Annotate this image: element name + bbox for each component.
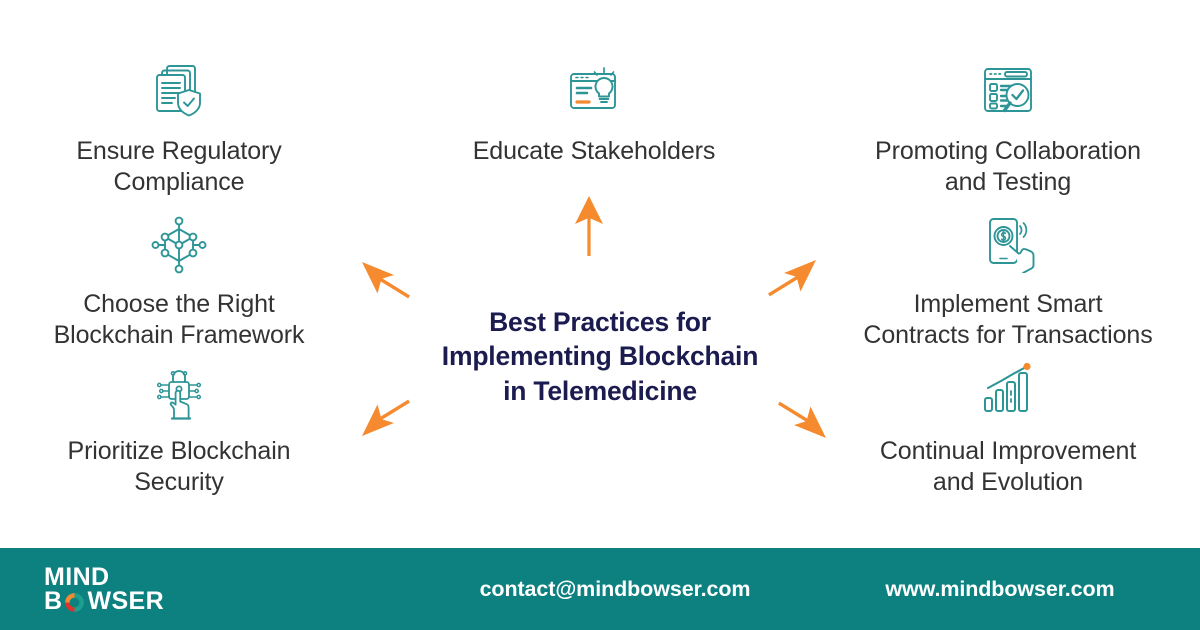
logo-text-b: B [44,589,62,613]
footer-website[interactable]: www.mindbowser.com [830,577,1200,602]
arrow-up-right-icon [762,256,818,306]
growth-bar-chart-arrow-icon [840,362,1176,424]
practice-item-regulatory: Ensure Regulatory Compliance [20,62,338,197]
circuit-lock-hand-icon [20,362,338,424]
practice-item-label: Implement Smart Contracts for Transactio… [840,289,1176,350]
footer-email-text: contact@mindbowser.com [480,577,751,601]
mindbowser-swirl-icon [63,591,86,614]
practice-item-label: Promoting Collaboration and Testing [840,136,1176,197]
brand-logo[interactable]: MIND B WSER [0,565,400,613]
documents-shield-check-icon [20,62,338,124]
logo-line-mind: MIND [44,565,400,589]
arrow-up-icon [566,196,612,258]
logo-text-wser: WSER [87,589,164,613]
browser-magnifier-check-icon [840,62,1176,124]
footer-bar: MIND B WSER contact@mindbowser.com www.m… [0,548,1200,630]
practice-item-label: Choose the Right Blockchain Framework [20,289,338,350]
center-title: Best Practices for Implementing Blockcha… [400,305,800,408]
practice-item-contracts: Implement Smart Contracts for Transactio… [840,215,1176,350]
practice-item-security: Prioritize Blockchain Security [20,362,338,497]
practice-item-educate: Educate Stakeholders [444,62,744,167]
practice-item-label: Prioritize Blockchain Security [20,436,338,497]
infographic-canvas: Ensure Regulatory Compliance [0,0,1200,630]
practice-item-label: Ensure Regulatory Compliance [20,136,338,197]
practice-item-framework: Choose the Right Blockchain Framework [20,215,338,350]
practice-item-collab: Promoting Collaboration and Testing [840,62,1176,197]
footer-website-text: www.mindbowser.com [885,577,1114,601]
arrow-up-left-icon [360,258,416,308]
practice-item-evolution: Continual Improvement and Evolution [840,362,1176,497]
logo-line-bowser: B WSER [44,589,400,613]
practice-item-label: Continual Improvement and Evolution [840,436,1176,497]
practice-item-label: Educate Stakeholders [444,136,744,167]
content-area: Ensure Regulatory Compliance [0,0,1200,548]
blockchain-network-nodes-icon [20,215,338,277]
footer-email[interactable]: contact@mindbowser.com [400,577,830,602]
presentation-lightbulb-icon [444,62,744,124]
mobile-payment-tap-icon [840,215,1176,277]
